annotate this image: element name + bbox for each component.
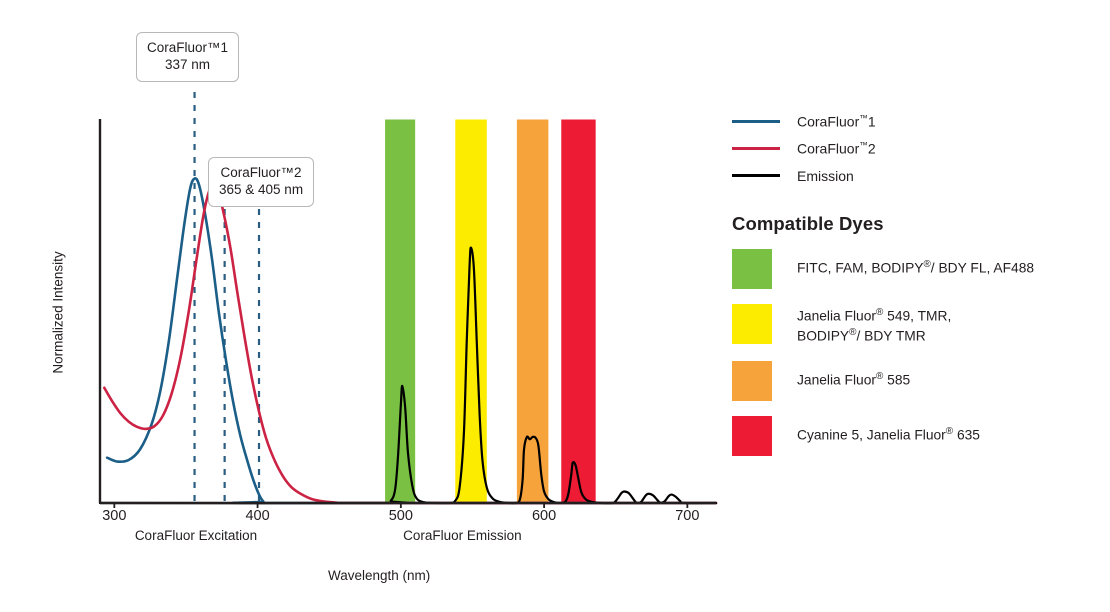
excitation-region-label: CoraFluor Excitation [76,528,316,543]
emission-region-label: CoraFluor Emission [342,528,582,543]
corafluor-1-callout-line2: 337 nm [147,56,228,73]
dye-legend-row: Janelia Fluor® 549, TMR,BODIPY®/ BDY TMR [732,304,1104,346]
dye-legend-row: Janelia Fluor® 585 [732,361,1104,401]
legend-series-label: Emission [797,168,854,184]
green-band [385,120,415,504]
legend-series-label: CoraFluor™1 [797,113,876,130]
excitation-marker-lines [195,92,259,503]
corafluor-2-callout-line1: CoraFluor™2 [219,164,303,181]
corafluor-1-callout-line1: CoraFluor™1 [147,39,228,56]
compatible-dyes-heading: Compatible Dyes [732,213,1104,235]
legend-line-swatch [732,147,780,150]
x-tick-label-300: 300 [84,508,144,524]
dye-legend-row: FITC, FAM, BODIPY®/ BDY FL, AF488 [732,249,1104,289]
legend-panel: CoraFluor™1CoraFluor™2Emission Compatibl… [732,108,1104,471]
compatible-dye-bands [385,120,596,504]
dye-color-swatch [732,361,772,401]
legend-series-row: CoraFluor™2 [732,135,1104,162]
dye-legend-label: Cyanine 5, Janelia Fluor® 635 [797,416,980,445]
dye-color-swatch [732,249,772,289]
orange-band [517,120,549,504]
spectra-figure: CoraFluor™1 337 nm CoraFluor™2 365 & 405… [0,0,1110,612]
dye-legend-label: Janelia Fluor® 585 [797,361,910,390]
dye-color-swatch [732,416,772,456]
x-tick-label-600: 600 [514,508,574,524]
compatible-dyes-list: FITC, FAM, BODIPY®/ BDY FL, AF488Janelia… [732,249,1104,456]
corafluor-2-callout: CoraFluor™2 365 & 405 nm [208,157,314,207]
x-axis-title: Wavelength (nm) [328,568,430,583]
series-legend: CoraFluor™1CoraFluor™2Emission [732,108,1104,189]
x-tick-label-500: 500 [371,508,431,524]
legend-series-label: CoraFluor™2 [797,140,876,157]
dye-legend-label: FITC, FAM, BODIPY®/ BDY FL, AF488 [797,249,1034,278]
dye-legend-label: Janelia Fluor® 549, TMR,BODIPY®/ BDY TMR [797,304,951,346]
x-tick-label-700: 700 [657,508,717,524]
dye-color-swatch [732,304,772,344]
dye-legend-label-line2: BODIPY®/ BDY TMR [797,326,951,346]
x-tick-label-400: 400 [228,508,288,524]
corafluor-1-callout: CoraFluor™1 337 nm [136,32,239,82]
y-axis-title: Normalized Intensity [51,223,66,403]
dye-legend-row: Cyanine 5, Janelia Fluor® 635 [732,416,1104,456]
legend-series-row: Emission [732,162,1104,189]
legend-line-swatch [732,174,780,177]
red-band [561,120,595,504]
legend-series-row: CoraFluor™1 [732,108,1104,135]
legend-line-swatch [732,120,780,123]
corafluor-2-callout-line2: 365 & 405 nm [219,181,303,198]
